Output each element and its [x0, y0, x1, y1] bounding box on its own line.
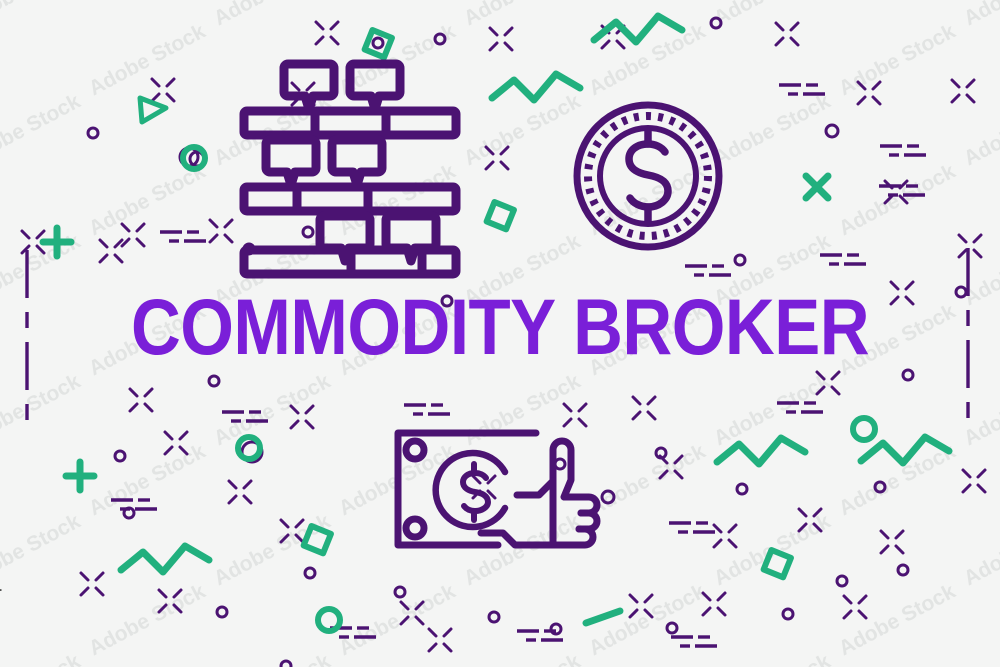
- stock-credit-label: Adobe Stock | #195917106: [0, 512, 2, 667]
- money-thumbs-up-icon: [393, 428, 607, 555]
- main-content-layer: COMMODITY BROKER: [0, 0, 1000, 667]
- org-chart-icon: [238, 58, 470, 285]
- dollar-coin-icon: [572, 100, 724, 257]
- page-title: COMMODITY BROKER: [0, 288, 1000, 367]
- illustration-canvas: Adobe StockAdobe StockAdobe StockAdobe S…: [0, 0, 1000, 667]
